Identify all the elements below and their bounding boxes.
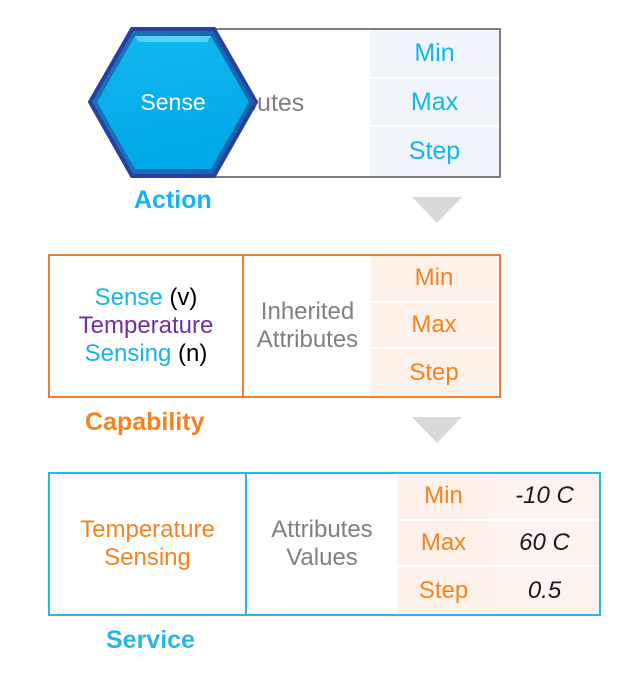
capability-attribute-min: Min <box>371 256 497 303</box>
capability-name-line-1: Sense (v) <box>95 284 198 312</box>
action-attribute-row-max: Max <box>370 79 499 128</box>
service-name-line-1: Temperature <box>80 516 215 544</box>
capability-name-line-2: Temperature <box>79 312 214 340</box>
tier-label-capability: Capability <box>85 408 204 437</box>
service-name-cell: Temperature Sensing <box>50 474 247 614</box>
capability-row-box: Sense (v) Temperature Sensing (n) Inheri… <box>48 254 501 398</box>
hexagon-shape <box>88 26 258 179</box>
capability-name-sensing: Sensing <box>85 340 172 367</box>
capability-name-line-3: Sensing (n) <box>85 340 208 368</box>
service-attribute-max-value: 60 C <box>490 521 599 568</box>
service-attribute-row-min: Min -10 C <box>397 474 599 521</box>
service-attribute-step-key: Step <box>397 567 490 614</box>
capability-attributes-label-line-1: Inherited <box>261 298 354 326</box>
capability-name-sense: Sense <box>95 284 163 311</box>
service-attribute-row-step: Step 0.5 <box>397 567 599 614</box>
service-row-box: Temperature Sensing Attributes Values Mi… <box>48 472 601 616</box>
service-name-line-2: Sensing <box>104 544 191 572</box>
action-attribute-list: Min Max Step <box>370 30 499 176</box>
capability-attribute-max: Max <box>371 303 497 350</box>
service-attribute-list: Min -10 C Max 60 C Step 0.5 <box>397 474 599 614</box>
capability-attribute-row-min: Min <box>371 256 497 303</box>
service-attributes-label: Attributes Values <box>247 474 397 614</box>
action-attribute-max: Max <box>370 79 499 128</box>
arrow-down-icon-capability-to-service <box>412 417 462 443</box>
capability-attributes-label-line-2: Attributes <box>257 326 358 354</box>
capability-name-cell: Sense (v) Temperature Sensing (n) <box>50 256 244 396</box>
arrow-down-icon-action-to-capability <box>412 197 462 223</box>
action-attribute-row-step: Step <box>370 127 499 176</box>
capability-attribute-row-max: Max <box>371 303 497 350</box>
service-attribute-min-value: -10 C <box>490 474 599 521</box>
capability-attribute-step: Step <box>371 349 497 396</box>
capability-name-verb-marker: (v) <box>169 284 197 311</box>
capability-attribute-row-step: Step <box>371 349 497 396</box>
tier-label-service: Service <box>106 626 195 655</box>
service-attribute-row-max: Max 60 C <box>397 521 599 568</box>
diagram-canvas: Attributes Min Max Step <box>0 0 638 686</box>
action-attribute-step: Step <box>370 127 499 176</box>
action-attribute-min: Min <box>370 30 499 79</box>
service-attribute-min-key: Min <box>397 474 490 521</box>
service-attribute-step-value: 0.5 <box>490 567 599 614</box>
capability-name-noun-marker: (n) <box>178 340 207 367</box>
capability-attributes-label: Inherited Attributes <box>244 256 371 396</box>
action-attribute-row-min: Min <box>370 30 499 79</box>
service-attributes-label-line-2: Values <box>286 544 358 572</box>
capability-attribute-list: Min Max Step <box>371 256 497 396</box>
tier-label-action: Action <box>134 186 212 215</box>
service-attribute-max-key: Max <box>397 521 490 568</box>
capability-name-temperature: Temperature <box>79 312 214 339</box>
service-attributes-label-line-1: Attributes <box>271 516 372 544</box>
